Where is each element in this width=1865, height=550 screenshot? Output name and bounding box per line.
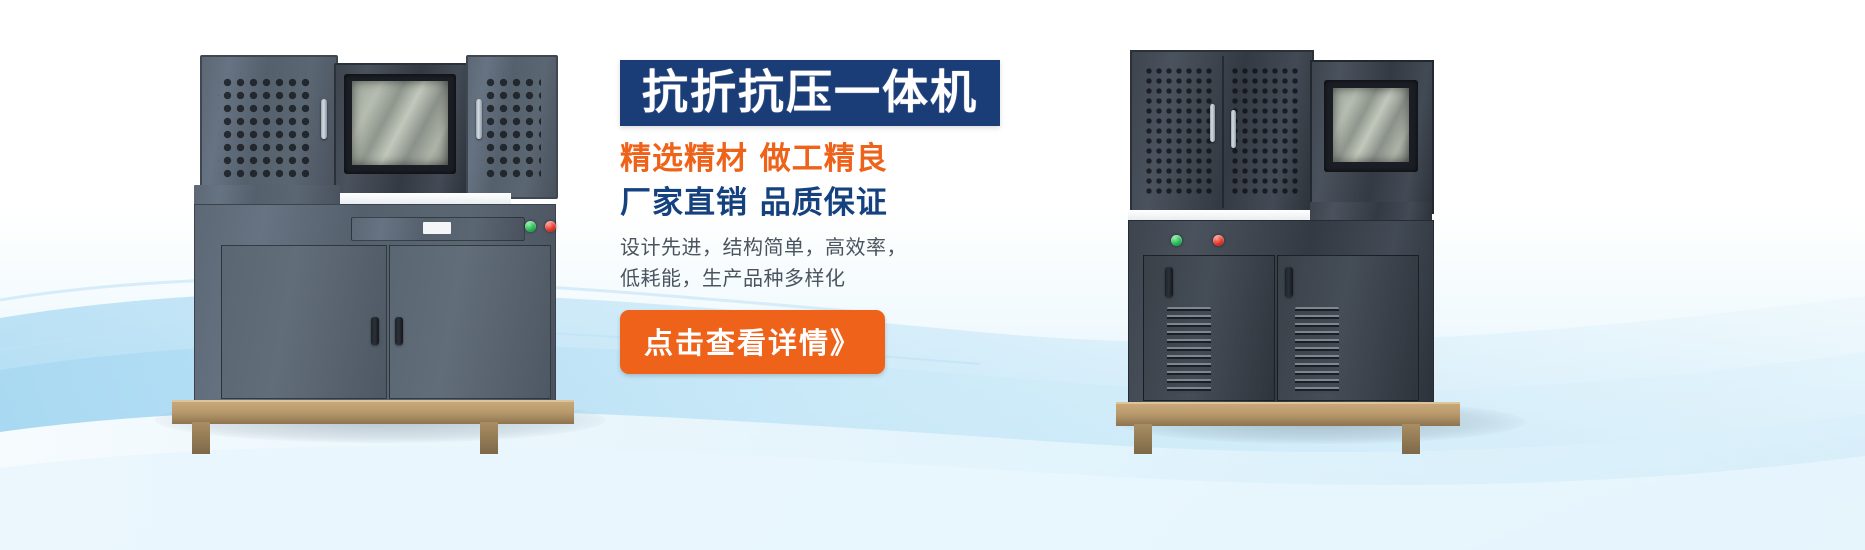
cabinet-door-right	[389, 245, 551, 399]
monitor-screen	[352, 81, 448, 165]
banner-copy: 抗折抗压一体机 精选精材 做工精良 厂家直销 品质保证 设计先进，结构简单，高效…	[620, 60, 1090, 374]
promo-banner: 抗折抗压一体机 精选精材 做工精良 厂家直销 品质保证 设计先进，结构简单，高效…	[0, 0, 1865, 550]
power-indicator-green	[525, 221, 536, 232]
pallet-leg-right	[480, 422, 498, 454]
ventilation-louvers-left	[1167, 307, 1211, 393]
pallet-leg-left	[192, 422, 210, 454]
cabinet-handle	[321, 99, 327, 139]
perforation-pattern	[481, 73, 541, 181]
stop-indicator-red	[1213, 235, 1224, 246]
drawer-label-plate	[423, 222, 451, 234]
door-handle-right	[395, 317, 403, 345]
product-photo-left	[150, 45, 610, 435]
power-indicator-green	[1171, 235, 1182, 246]
monitor-bezel	[1324, 80, 1418, 172]
pallet-leg-right	[1402, 424, 1420, 454]
right-upper-perforated-cabinet	[466, 55, 558, 199]
wooden-pallet	[172, 400, 574, 424]
monitor-housing	[334, 63, 470, 197]
view-details-button[interactable]: 点击查看详情》	[620, 310, 885, 374]
top-shelf-strip	[333, 193, 511, 204]
cabinet-door-left	[221, 245, 387, 399]
ventilation-louvers-right	[1295, 307, 1339, 393]
perforation-pattern	[218, 73, 314, 181]
machine-main-body	[194, 204, 556, 402]
wooden-pallet	[1116, 402, 1460, 426]
subtitle-orange: 精选精材 做工精良	[620, 142, 1090, 177]
door-handle-left	[1165, 267, 1173, 297]
perforation-pattern-left	[1144, 66, 1214, 194]
shelf-strip	[1128, 210, 1313, 220]
product-photo-right	[1110, 38, 1530, 438]
cabinet-handle-left	[1210, 104, 1215, 142]
description-line-2: 低耗能，生产品种多样化	[620, 263, 1090, 294]
cabinet-handle-right	[1231, 110, 1236, 148]
upper-perforated-cabinet	[1130, 50, 1314, 214]
machine-main-body	[1128, 220, 1434, 404]
banner-title: 抗折抗压一体机	[642, 69, 978, 115]
cabinet-door-seam	[1222, 56, 1224, 208]
title-band: 抗折抗压一体机	[620, 60, 1000, 126]
perforation-pattern-right	[1230, 66, 1300, 194]
description-block: 设计先进，结构简单，高效率， 低耗能，生产品种多样化	[620, 232, 1090, 294]
monitor-housing	[1310, 60, 1434, 214]
monitor-bezel	[344, 74, 456, 174]
stop-indicator-red	[545, 221, 556, 232]
door-handle-left	[371, 317, 379, 345]
pallet-leg-left	[1134, 424, 1152, 454]
subtitle-blue: 厂家直销 品质保证	[620, 186, 1090, 221]
monitor-screen	[1333, 88, 1409, 162]
door-handle-right	[1285, 267, 1293, 297]
cabinet-handle	[476, 99, 482, 139]
description-line-1: 设计先进，结构简单，高效率，	[620, 232, 1090, 263]
left-upper-perforated-cabinet	[200, 55, 338, 199]
